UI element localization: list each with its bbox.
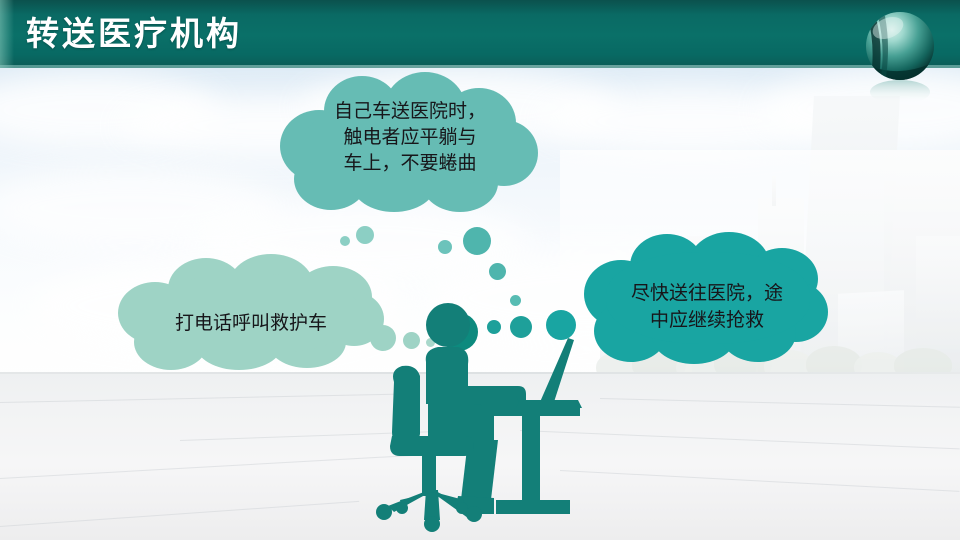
laptop-base: [516, 400, 582, 408]
logo-reflection: [870, 80, 930, 104]
desk-column: [522, 414, 540, 504]
chair-backrest: [392, 366, 420, 446]
sphere-logo: [854, 6, 946, 106]
building-antenna: [772, 176, 776, 206]
cloud-bubble-top: 自己车送医院时， 触电者应平躺与 车上，不要蜷曲: [280, 76, 538, 212]
chair-column: [422, 454, 436, 496]
desk-foot: [496, 500, 570, 514]
thought-dot: [340, 236, 350, 246]
thought-dot: [489, 263, 506, 280]
chair-caster: [376, 504, 392, 520]
person-torso: [426, 347, 469, 404]
person-head: [426, 303, 470, 347]
thought-dot: [438, 240, 452, 254]
cloud-bubble-right: 尽快送往医院，途 中应继续抢救: [584, 234, 828, 364]
slide-canvas: 转送医疗机构: [0, 0, 960, 540]
page-title: 转送医疗机构: [26, 12, 242, 56]
chair-caster: [424, 516, 440, 532]
title-bar: 转送医疗机构: [0, 0, 960, 68]
person-at-desk-graphic: [370, 300, 610, 540]
cloud-top-text: 自己车送医院时， 触电者应平躺与 车上，不要蜷曲: [302, 98, 518, 176]
laptop-screen: [540, 338, 574, 402]
title-bar-left-edge: [0, 0, 14, 68]
chair-caster: [396, 502, 408, 514]
chair-caster: [456, 502, 468, 514]
thought-dot: [463, 227, 491, 255]
cloud-bubble-left: 打电话呼叫救护车: [118, 258, 384, 370]
chair-seat: [390, 436, 474, 456]
chair-caster: [466, 506, 482, 522]
cloud-left-text: 打电话呼叫救护车: [136, 310, 366, 336]
thought-dot: [356, 226, 374, 244]
person-at-desk-silhouette: [370, 300, 610, 540]
cloud-right-text: 尽快送往医院，途 中应继续抢救: [600, 280, 814, 334]
sphere-logo-graphic: [854, 6, 946, 106]
